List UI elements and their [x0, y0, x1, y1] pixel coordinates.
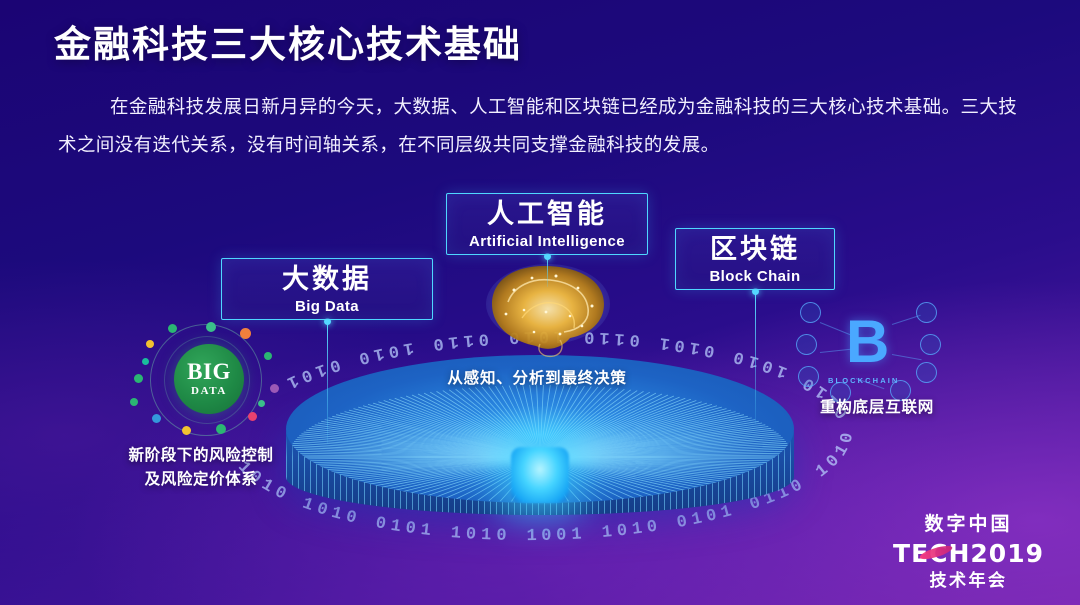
chain-node-building: [916, 362, 937, 383]
logo-wordmark-text: TECH2019: [893, 539, 1044, 568]
caption-big-data-line2: 及风险定价体系: [104, 468, 298, 492]
chain-node-shield: [920, 334, 941, 355]
blockchain-b-icon: B BLOCKCHAIN: [794, 300, 944, 404]
logo-line-2: TECH2019: [893, 539, 1044, 568]
cluster-node: [270, 384, 279, 393]
label-en-big-data: Big Data: [222, 298, 432, 315]
intro-paragraph: 在金融科技发展日新月异的今天，大数据、人工智能和区块链已经成为金融科技的三大核心…: [58, 88, 1024, 164]
chain-node-bank: [796, 334, 817, 355]
label-cn-ai: 人工智能: [447, 200, 647, 229]
blockchain-wordmark: BLOCKCHAIN: [828, 376, 899, 385]
cluster-node: [130, 398, 138, 406]
event-logo: 数字中国 TECH2019 技术年会: [893, 509, 1044, 591]
caption-big-data-line1: 新阶段下的风险控制: [104, 444, 298, 468]
blockchain-b-glyph: B: [846, 312, 892, 376]
cluster-node: [134, 374, 143, 383]
caption-big-data: 新阶段下的风险控制 及风险定价体系: [104, 444, 298, 492]
cluster-node: [142, 358, 149, 365]
logo-line-1: 数字中国: [893, 509, 1044, 536]
big-data-word-data: DATA: [191, 385, 227, 397]
cluster-node: [240, 328, 251, 339]
connector-block-chain: [755, 292, 756, 424]
cluster-node: [264, 352, 272, 360]
cluster-node: [152, 414, 161, 423]
page-title: 金融科技三大核心技术基础: [54, 14, 522, 68]
chain-node-leaf: [798, 366, 819, 387]
label-box-ai[interactable]: 人工智能 Artificial Intelligence: [446, 193, 648, 255]
big-data-network-icon: BIG DATA: [128, 322, 284, 438]
cluster-node: [206, 322, 216, 332]
logo-line-3: 技术年会: [893, 566, 1044, 591]
cluster-node: [168, 324, 177, 333]
chain-node-gear: [800, 302, 821, 323]
label-cn-big-data: 大数据: [222, 265, 432, 294]
label-cn-block-chain: 区块链: [676, 235, 834, 264]
cluster-node: [182, 426, 191, 435]
cluster-node: [146, 340, 154, 348]
label-en-ai: Artificial Intelligence: [447, 233, 647, 250]
label-en-block-chain: Block Chain: [676, 268, 834, 285]
caption-ai: 从感知、分析到最终决策: [437, 366, 637, 388]
big-data-word-big: BIG: [187, 361, 231, 383]
cluster-node: [248, 412, 257, 421]
cluster-node: [216, 424, 226, 434]
label-box-big-data[interactable]: 大数据 Big Data: [221, 258, 433, 320]
connector-ai: [547, 257, 548, 287]
big-data-circle: BIG DATA: [174, 344, 244, 414]
cluster-node: [258, 400, 265, 407]
label-box-block-chain[interactable]: 区块链 Block Chain: [675, 228, 835, 290]
disc-core-glow: [511, 447, 569, 503]
connector-big-data: [327, 322, 328, 444]
chain-node-chart: [916, 302, 937, 323]
caption-block-chain: 重构底层互联网: [796, 395, 958, 417]
slide-canvas: 金融科技三大核心技术基础 在金融科技发展日新月异的今天，大数据、人工智能和区块链…: [0, 0, 1080, 605]
